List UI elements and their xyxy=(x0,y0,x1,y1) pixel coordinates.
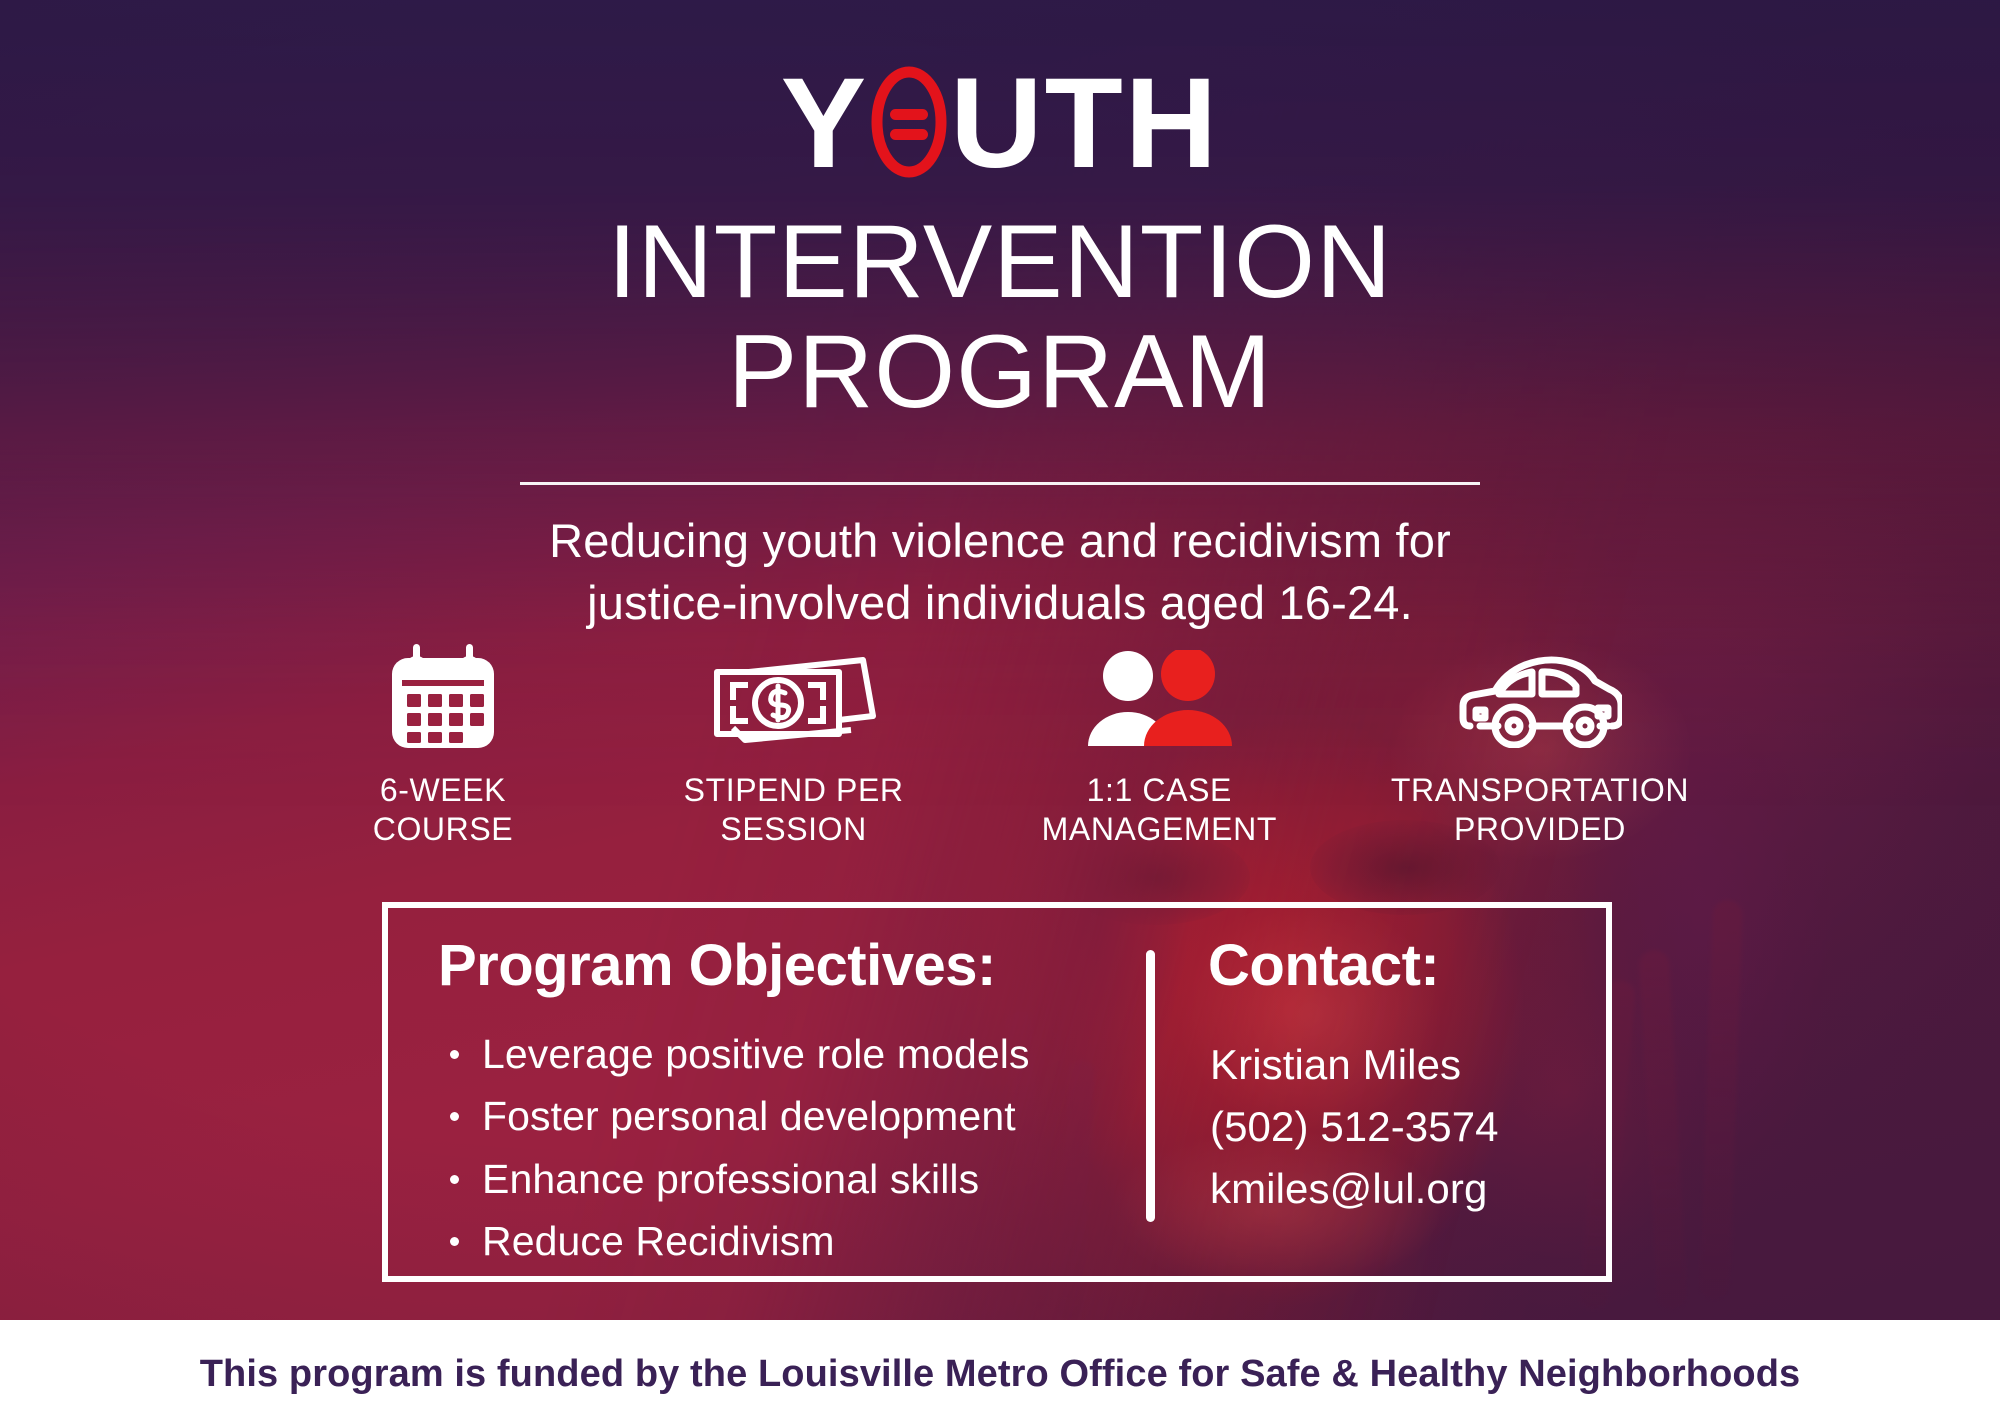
poster-content: YUTH INTERVENTION PROGRAM Reducing youth… xyxy=(0,0,2000,1428)
objective-text: Leverage positive role models xyxy=(482,1031,1030,1077)
list-item: Leverage positive role models xyxy=(436,1023,1126,1085)
poster-title-line-1: YUTH xyxy=(0,60,2000,188)
feature-label: 1:1 CASE MANAGEMENT xyxy=(1042,771,1277,849)
objective-text: Reduce Recidivism xyxy=(482,1218,835,1264)
calendar-icon xyxy=(384,645,502,755)
money-banknote-icon xyxy=(711,645,877,755)
contact-heading: Contact: xyxy=(1208,932,1439,999)
poster-title-line-3: PROGRAM xyxy=(0,320,2000,424)
feature-label: STIPEND PER SESSION xyxy=(684,771,904,849)
contact-email[interactable]: kmiles@lul.org xyxy=(1210,1158,1590,1220)
subtitle-line-2: justice-involved individuals aged 16-24. xyxy=(300,572,1700,634)
title-uth: UTH xyxy=(950,60,1219,188)
feature-row: 6-WEEK COURSE xyxy=(300,645,1720,849)
poster-title-line-2: INTERVENTION xyxy=(0,210,2000,314)
funding-footer-text: This program is funded by the Louisville… xyxy=(200,1353,1801,1396)
feature-item-6-week-course: 6-WEEK COURSE xyxy=(278,645,608,849)
feature-item-stipend-per-session: STIPEND PER SESSION xyxy=(629,645,959,849)
contact-phone[interactable]: (502) 512-3574 xyxy=(1210,1096,1590,1158)
contact-details: Kristian Miles (502) 512-3574 kmiles@lul… xyxy=(1210,1034,1590,1220)
two-people-icon xyxy=(1084,645,1234,755)
funding-footer: This program is funded by the Louisville… xyxy=(0,1320,2000,1428)
feature-label: TRANSPORTATION PROVIDED xyxy=(1391,771,1689,849)
car-icon xyxy=(1458,645,1622,755)
feature-item-case-management: 1:1 CASE MANAGEMENT xyxy=(989,645,1329,849)
objective-text: Foster personal development xyxy=(482,1093,1016,1139)
bullet-icon xyxy=(450,1237,459,1246)
poster-root: YUTH INTERVENTION PROGRAM Reducing youth… xyxy=(0,0,2000,1428)
list-item: Enhance professional skills xyxy=(436,1148,1126,1210)
bullet-icon xyxy=(450,1175,459,1184)
bullet-icon xyxy=(450,1050,459,1059)
subtitle-line-1: Reducing youth violence and recidivism f… xyxy=(300,510,1700,572)
feature-label: 6-WEEK COURSE xyxy=(373,771,514,849)
title-divider-rule xyxy=(520,482,1480,485)
feature-item-transportation: TRANSPORTATION PROVIDED xyxy=(1360,645,1720,849)
poster-subtitle: Reducing youth violence and recidivism f… xyxy=(300,510,1700,634)
bullet-icon xyxy=(450,1112,459,1121)
info-panel: Program Objectives: Leverage positive ro… xyxy=(382,902,1612,1282)
program-objectives-heading: Program Objectives: xyxy=(438,932,996,999)
contact-name: Kristian Miles xyxy=(1210,1034,1590,1096)
objective-text: Enhance professional skills xyxy=(482,1156,979,1202)
title-y: Y xyxy=(781,60,868,188)
list-item: Reduce Recidivism xyxy=(436,1210,1126,1272)
urban-league-equals-icon xyxy=(870,63,948,181)
panel-vertical-divider xyxy=(1146,950,1155,1222)
list-item: Foster personal development xyxy=(436,1085,1126,1147)
program-objectives-list: Leverage positive role models Foster per… xyxy=(436,1023,1126,1272)
